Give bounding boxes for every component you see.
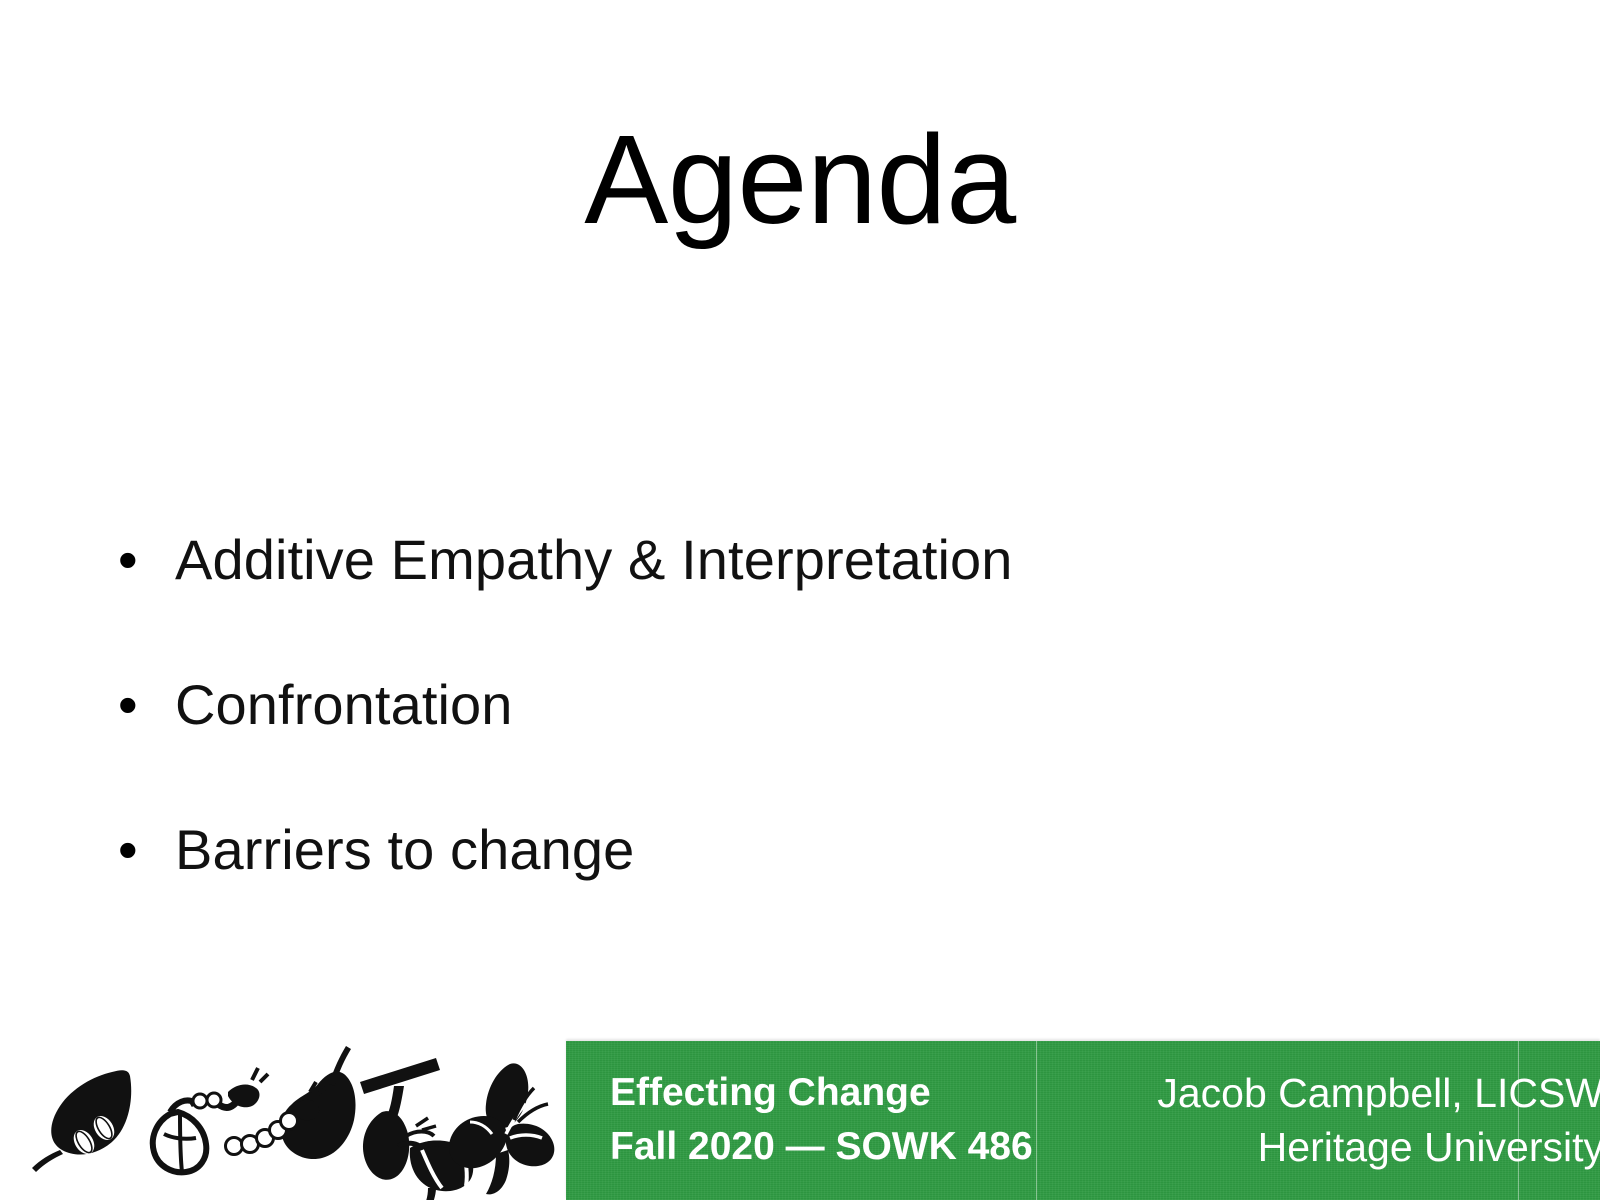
egg-hatching-icon (153, 1068, 268, 1172)
footer-presenter-institution: Heritage University (1157, 1120, 1600, 1174)
bullet-point-icon: • (118, 814, 175, 886)
list-item: • Additive Empathy & Interpretation (118, 524, 1168, 596)
leaf-with-eggs-icon (32, 1070, 131, 1172)
footer-course-info: Effecting Change Fall 2020 — SOWK 486 (610, 1066, 1033, 1174)
bullet-point-icon: • (118, 524, 175, 596)
slide-canvas: Agenda • Additive Empathy & Interpretati… (0, 0, 1600, 1200)
butterfly-lifecycle-graphic (24, 1030, 564, 1200)
footer-presenter-info: Jacob Campbell, LICSW Heritage Universit… (1157, 1066, 1600, 1174)
agenda-item-label-2: Confrontation (175, 669, 1168, 741)
footer-presenter-name: Jacob Campbell, LICSW (1157, 1066, 1600, 1120)
list-item: • Confrontation (118, 669, 1168, 741)
agenda-item-label-3: Barriers to change (175, 814, 1168, 886)
slide-footer: Effecting Change Fall 2020 — SOWK 486 Ja… (566, 1041, 1600, 1200)
list-item: • Barriers to change (118, 814, 1168, 886)
butterfly-lifecycle-icon (24, 1030, 564, 1200)
agenda-bullet-list: • Additive Empathy & Interpretation • Co… (118, 524, 1168, 886)
footer-course-term: Fall 2020 — SOWK 486 (610, 1120, 1033, 1174)
page-title: Agenda (0, 108, 1600, 253)
agenda-item-label-1: Additive Empathy & Interpretation (175, 524, 1168, 596)
footer-divider-left (1036, 1041, 1037, 1200)
footer-course-title: Effecting Change (610, 1066, 1033, 1120)
bullet-point-icon: • (118, 669, 175, 741)
